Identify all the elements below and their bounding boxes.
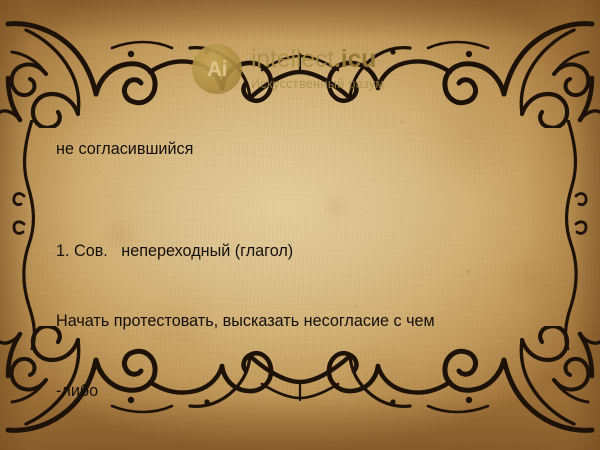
entry-line-definition-1: Начать протестовать, высказать несогласи… bbox=[56, 310, 556, 333]
parchment-page: Ai intellect.icu Искусственный разум не … bbox=[0, 0, 600, 450]
dictionary-entry: не согласившийся 1. Сов. непереходный (г… bbox=[56, 68, 556, 450]
headword: не согласившийся bbox=[56, 138, 556, 161]
entry-line-grammar: 1. Сов. непереходный (глагол) bbox=[56, 240, 556, 263]
entry-line-definition-1-cont: -либо bbox=[56, 380, 556, 403]
